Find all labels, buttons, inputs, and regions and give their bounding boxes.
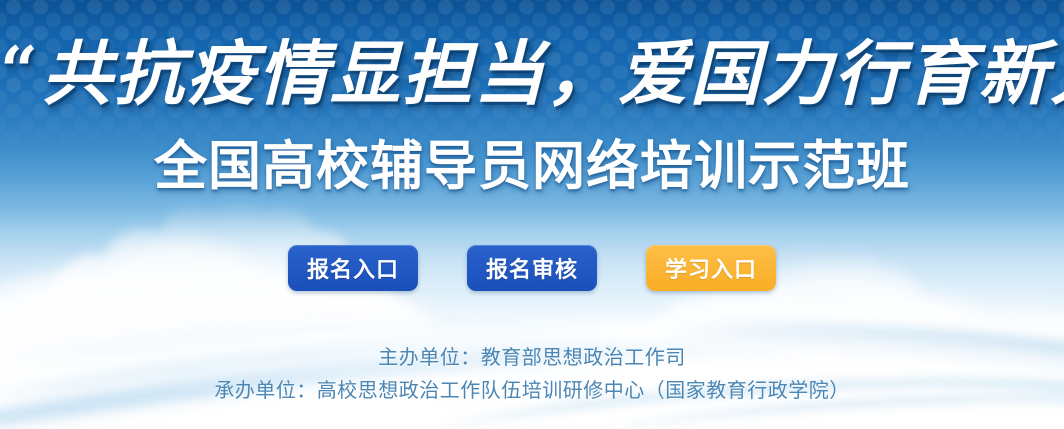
headline: “共抗疫情显担当，爱国力行育新人” (0, 28, 1064, 117)
footer-credits: 主办单位：教育部思想政治工作司 承办单位：高校思想政治工作队伍培训研修中心（国家… (0, 342, 1064, 408)
promo-banner: “共抗疫情显担当，爱国力行育新人” 全国高校辅导员网络培训示范班 报名入口 报名… (0, 0, 1064, 429)
subtitle: 全国高校辅导员网络培训示范班 (0, 136, 1064, 198)
quote-open-mark: “ (0, 32, 38, 110)
registration-review-button[interactable]: 报名审核 (467, 245, 597, 291)
register-entry-button[interactable]: 报名入口 (288, 245, 418, 291)
headline-text: 共抗疫情显担当，爱国力行育新人 (42, 32, 1064, 115)
organizer-line: 主办单位：教育部思想政治工作司 (0, 342, 1064, 375)
study-entry-button[interactable]: 学习入口 (646, 245, 776, 291)
banner-content: “共抗疫情显担当，爱国力行育新人” 全国高校辅导员网络培训示范班 报名入口 报名… (0, 0, 1064, 429)
cta-button-row: 报名入口 报名审核 学习入口 (0, 245, 1064, 291)
co-organizer-line: 承办单位：高校思想政治工作队伍培训研修中心（国家教育行政学院） (0, 375, 1064, 408)
